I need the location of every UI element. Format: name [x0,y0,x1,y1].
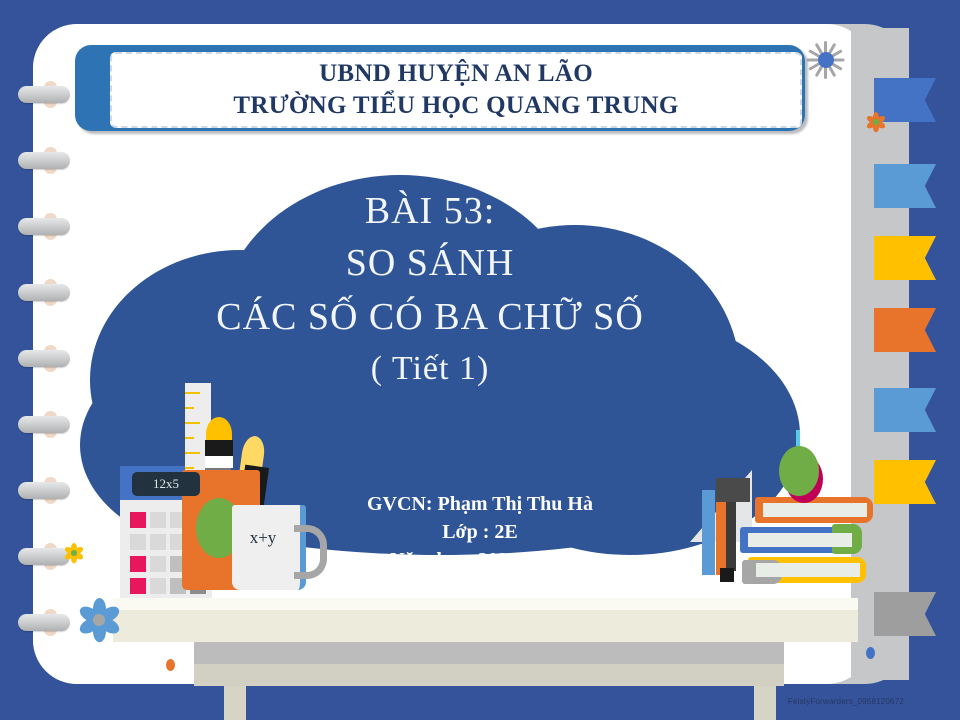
spiral-ring [18,614,70,631]
14 [720,568,734,582]
watermark: FeistyForwarders_0968120672 [788,697,904,706]
teacher-name: GVCN: Phạm Thị Thu Hà [250,490,710,518]
ruler-tick [185,422,200,424]
desk-shelf-lower [194,664,784,686]
school-authority-line: UBND HUYỆN AN LÃO [319,58,593,90]
flower-center [873,119,878,124]
dot-orange [166,659,175,671]
bookmark-tab-5[interactable] [874,388,936,432]
starburst-icon [806,40,846,80]
calculator-key [150,512,166,528]
bookmark-tab-6[interactable] [874,460,936,504]
school-name-line: TRƯỜNG TIỂU HỌC QUANG TRUNG [233,90,678,122]
book-pages [763,503,867,517]
spiral-ring [18,416,70,433]
class-name: Lớp : 2E [250,518,710,546]
starburst-center [818,52,834,68]
spiral-ring [18,218,70,235]
book-pages [748,533,852,547]
flower-center [93,614,105,626]
spiral-ring [18,482,70,499]
calculator-key [150,534,166,550]
title-line-3: CÁC SỐ CÓ BA CHỮ SỐ [150,290,710,344]
spiral-ring [18,350,70,367]
header-banner: UBND HUYỆN AN LÃO TRƯỜNG TIỂU HỌC QUANG … [110,52,802,128]
slide-canvas: UBND HUYỆN AN LÃO TRƯỜNG TIỂU HỌC QUANG … [0,0,960,720]
flower-center [71,550,76,555]
calculator-key [150,556,166,572]
spiral-ring [18,152,70,169]
calculator-key [130,512,146,528]
lesson-credits: GVCN: Phạm Thị Thu Hà Lớp : 2E Năm học: … [250,490,710,574]
bookmark-tab-7[interactable] [874,592,936,636]
desk-leg-left [224,686,246,720]
title-line-2: SO SÁNH [150,236,710,290]
flower-yellow-small [63,542,85,564]
globe-icon [779,446,819,496]
dot-blue [866,647,875,659]
calculator-key [130,578,146,594]
flower-blue-large [73,594,125,646]
bookmark-tab-2[interactable] [874,164,936,208]
calculator-key [130,534,146,550]
lesson-title: BÀI 53: SO SÁNH CÁC SỐ CÓ BA CHỮ SỐ ( Ti… [150,186,710,394]
spiral-ring [18,284,70,301]
brush-ferrule-light [205,456,233,468]
book-pages [756,563,860,577]
calculator-display: 12x5 [132,472,200,496]
calculator-key [150,578,166,594]
78 [726,493,736,571]
desk-surface-highlight [113,598,858,610]
bookmark-tab-3[interactable] [874,236,936,280]
flower-orange-small [865,111,887,133]
ruler-tick [185,437,194,439]
ruler-tick [185,407,194,409]
calculator-key [130,556,146,572]
bookmark-tab-4[interactable] [874,308,936,352]
spiral-ring [18,86,70,103]
school-year: Năm học: 2024- 2025 [250,546,710,574]
desk-leg-right [754,686,776,720]
ruler-tick [185,452,200,454]
title-line-1: BÀI 53: [150,186,710,236]
desk-shelf-upper [194,642,784,664]
24 [716,478,750,502]
title-line-4: ( Tiết 1) [150,344,710,394]
ruler-tick [185,467,194,469]
